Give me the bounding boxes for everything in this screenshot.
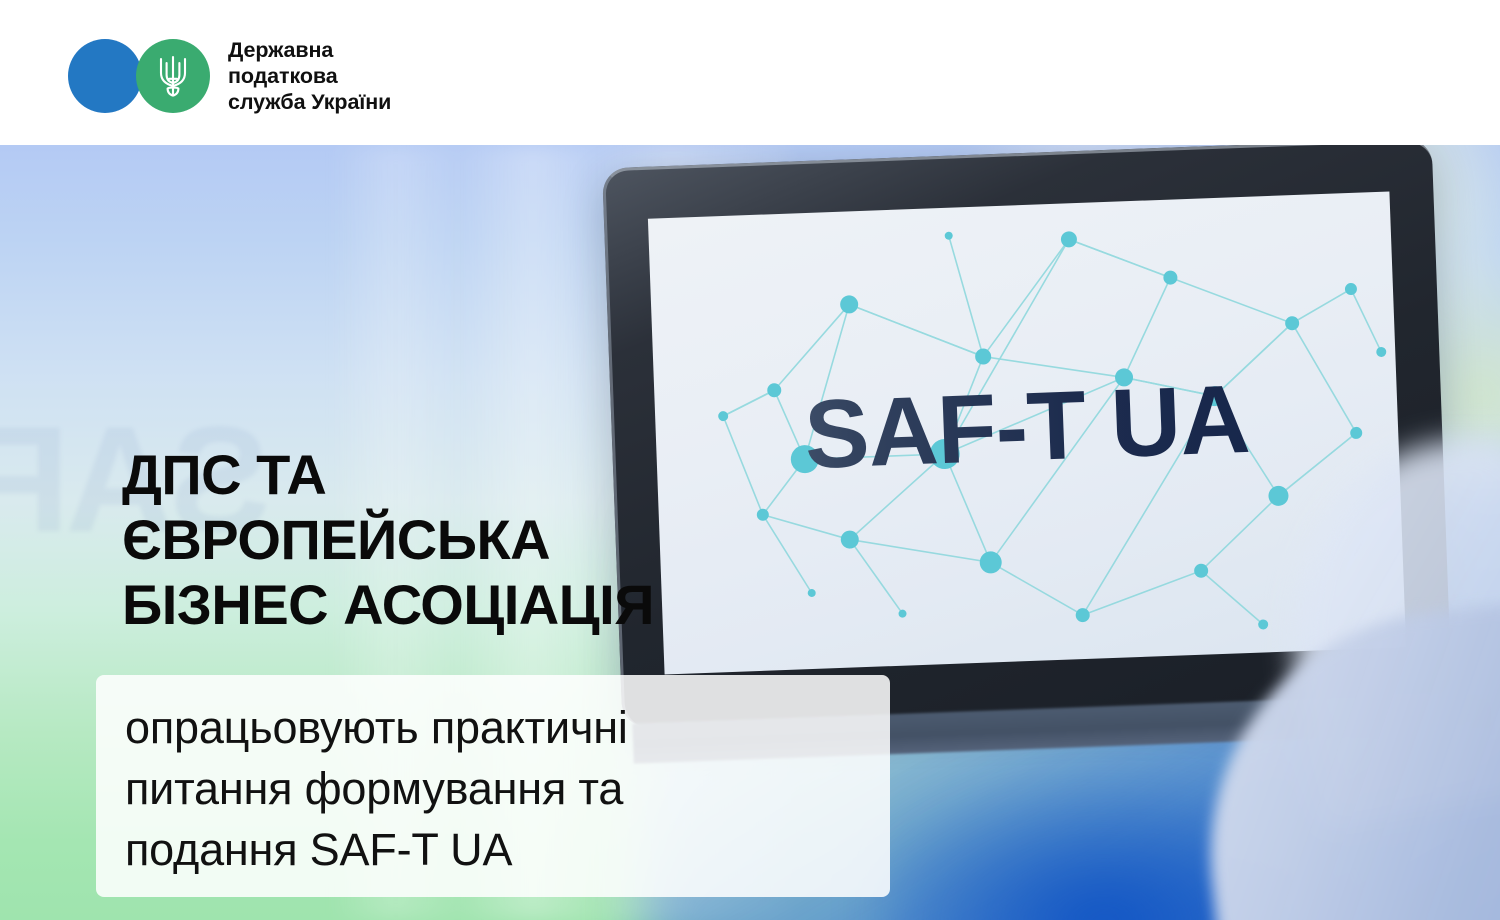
agency-logo (68, 39, 216, 113)
subtitle-text: опрацьовують практичні питання формуванн… (125, 697, 885, 880)
subtitle-card: опрацьовують практичні питання формуванн… (96, 675, 890, 897)
poster-canvas: Державна податкова служба України SAF (0, 0, 1500, 920)
organization-name: Державна податкова служба України (228, 37, 391, 115)
logo-circle-blue-icon (68, 39, 142, 113)
hero-stage: SAF (0, 145, 1500, 920)
page-title: ДПС ТА ЄВРОПЕЙСЬКА БІЗНЕС АСОЦІАЦІЯ (122, 442, 654, 637)
ukrainian-trident-icon (156, 53, 190, 99)
brand-lockup: Державна податкова служба України (68, 37, 391, 115)
header-bar: Державна податкова служба України (0, 0, 1500, 145)
laptop-screen: SAF-T UA (648, 192, 1406, 675)
